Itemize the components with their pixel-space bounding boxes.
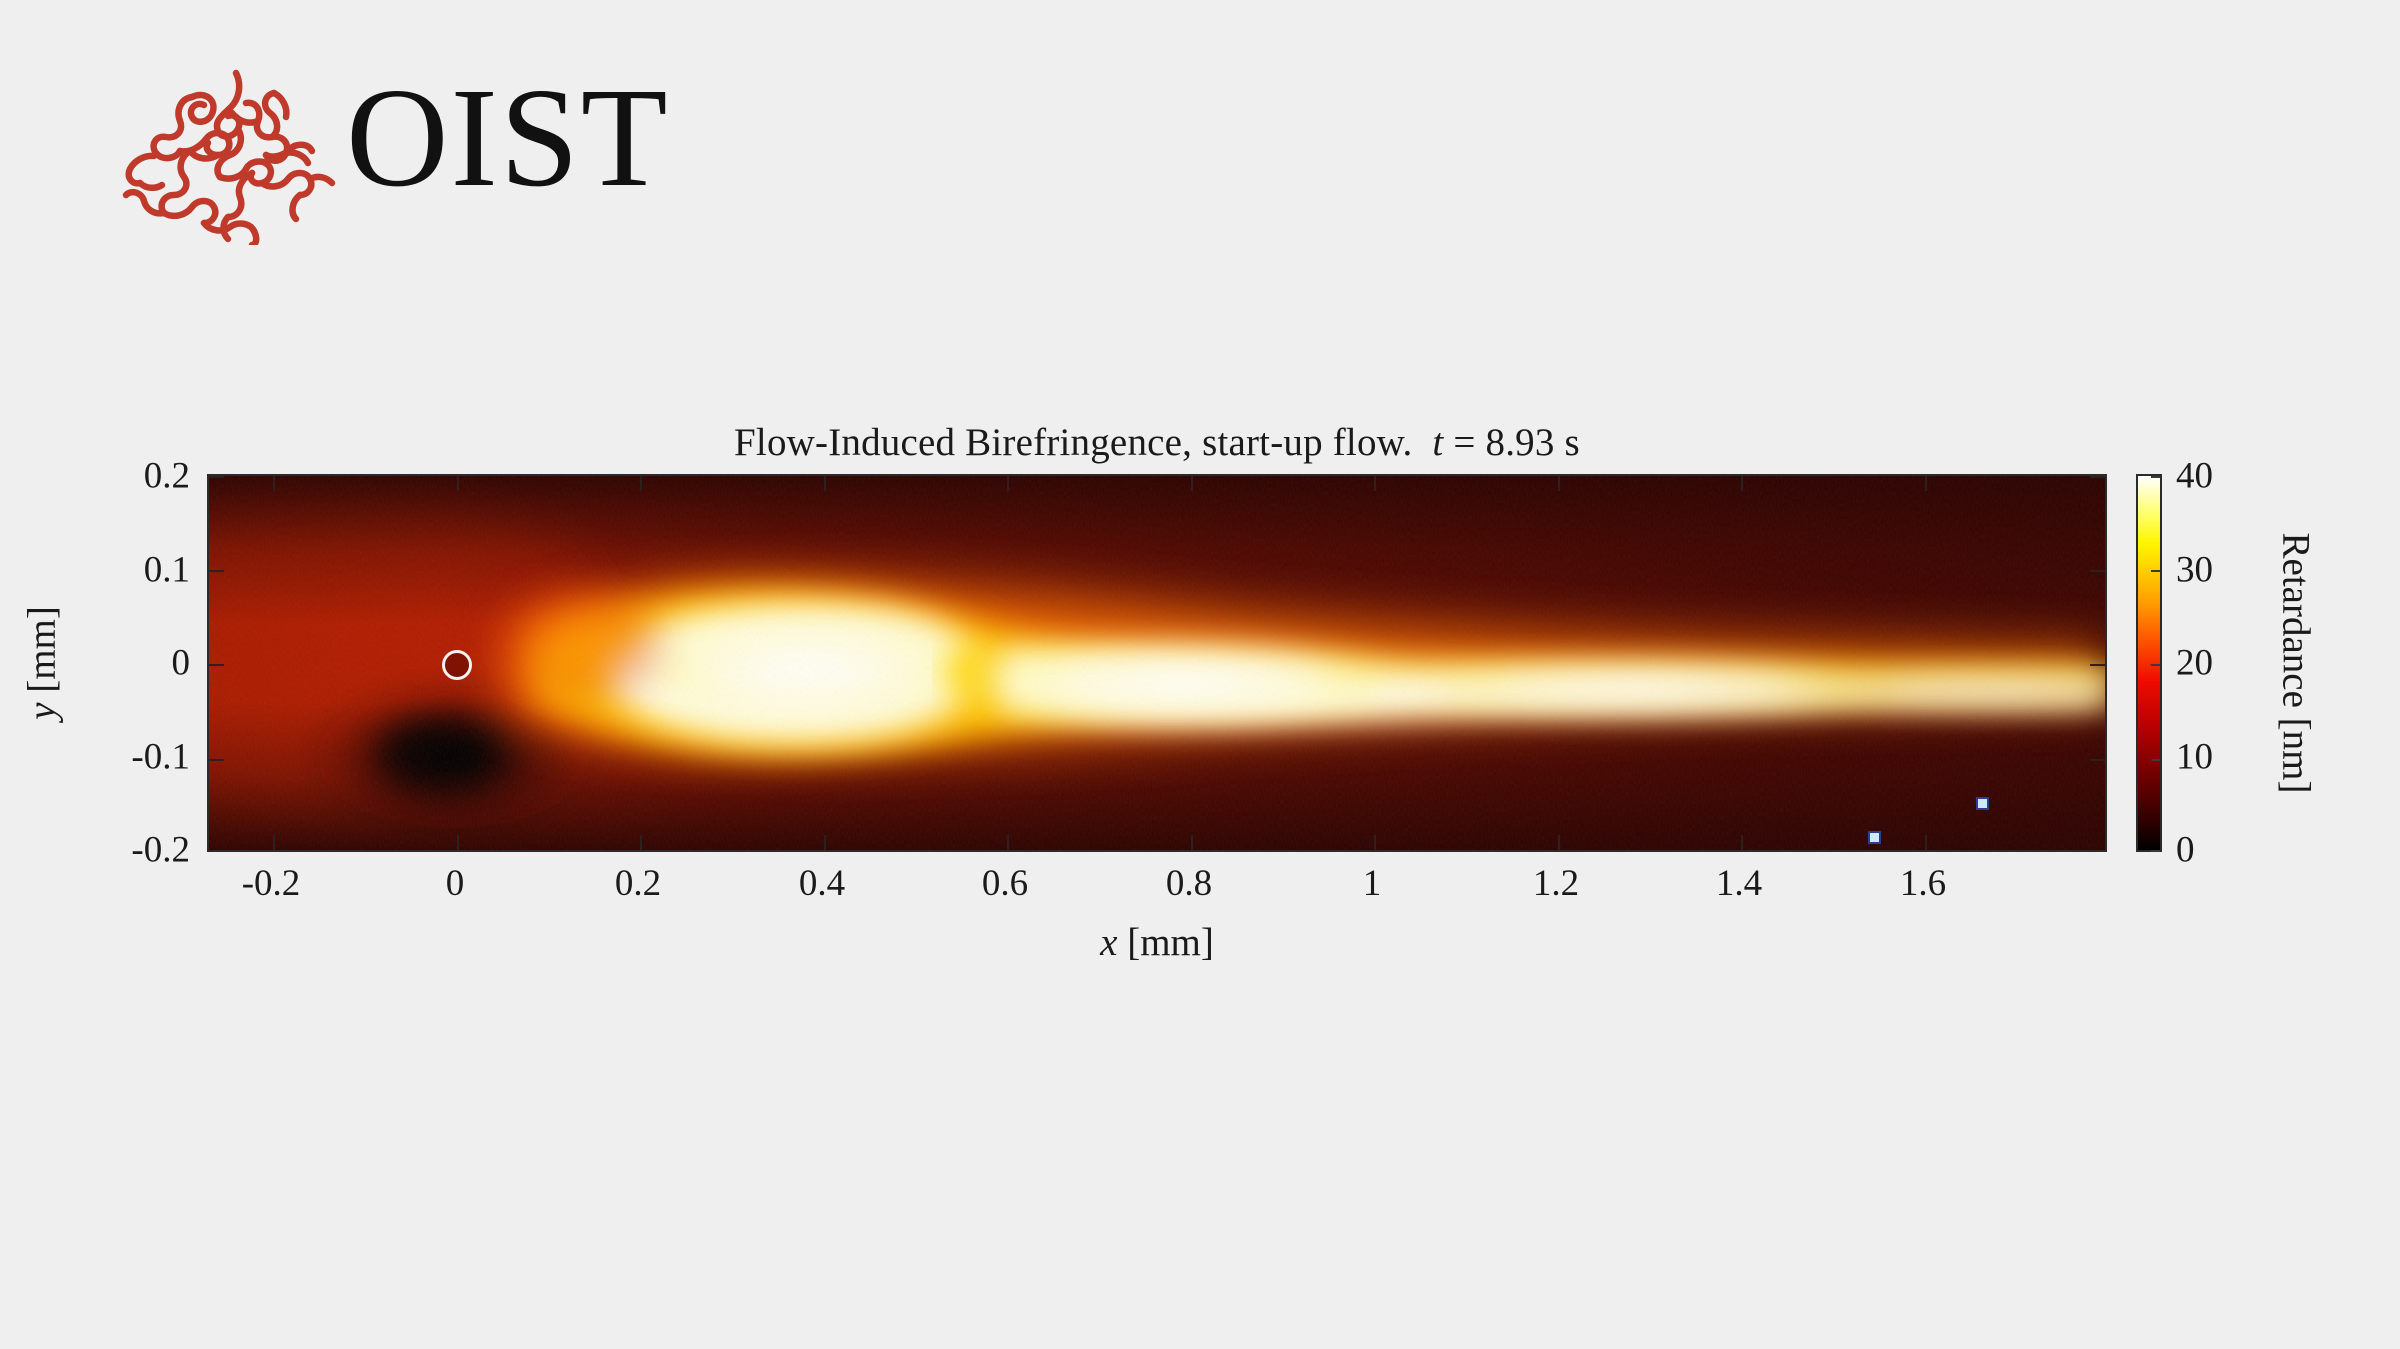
particle-marker-2: [1976, 797, 1989, 810]
x-axis-title: x [mm]: [207, 920, 2107, 965]
y-tick-right: [2090, 664, 2105, 666]
y-tick-left: [209, 570, 224, 572]
retardance-heatmap: [209, 476, 2105, 850]
oist-wordmark: OIST: [346, 63, 676, 223]
colorbar-label-unit: [nm]: [2275, 718, 2318, 794]
x-tick-label: 1: [1363, 862, 1382, 905]
x-tick-label: 0.6: [982, 862, 1028, 905]
colorbar-tick-label: 40: [2176, 455, 2213, 498]
x-tick-label: 1.2: [1533, 862, 1579, 905]
y-axis-symbol: y: [21, 703, 64, 720]
y-tick-right: [2090, 851, 2105, 852]
colorbar-tick: [2151, 664, 2160, 666]
colorbar-label-text: Retardance: [2275, 533, 2318, 708]
x-tick-top: [1558, 476, 1560, 491]
oist-polymer-chain-logo-icon: [118, 55, 348, 245]
y-tick-left: [209, 759, 224, 761]
x-tick-top: [1191, 476, 1193, 491]
colorbar-tick: [2151, 570, 2160, 572]
y-axis-unit: [mm]: [21, 606, 64, 693]
figure-title-time-symbol: t: [1432, 421, 1443, 464]
figure-title: Flow-Induced Birefringence, start-up flo…: [207, 420, 2107, 465]
colorbar-tick: [2151, 759, 2160, 761]
cylinder-marker: [442, 650, 472, 680]
x-tick-bottom: [1007, 835, 1009, 850]
x-tick-bottom: [1558, 835, 1560, 850]
x-tick-label: 0.2: [615, 862, 661, 905]
oist-wordmark-text: OIST: [346, 63, 670, 216]
oist-logo: OIST: [118, 55, 678, 245]
x-tick-top: [1007, 476, 1009, 491]
y-tick-left: [209, 476, 224, 478]
y-tick-left: [209, 851, 224, 852]
colorbar: [2136, 474, 2162, 852]
x-tick-bottom: [824, 835, 826, 850]
x-tick-label: 1.4: [1716, 862, 1762, 905]
x-tick-bottom: [1374, 835, 1376, 850]
x-tick-bottom: [1925, 835, 1927, 850]
x-tick-top: [1925, 476, 1927, 491]
y-tick-right: [2090, 759, 2105, 761]
colorbar-axis-title: Retardance [nm]: [2274, 533, 2319, 794]
y-axis-title: y [mm]: [20, 606, 65, 720]
y-tick-right: [2090, 476, 2105, 478]
y-tick-label: 0.1: [144, 549, 190, 592]
figure-title-main: Flow-Induced Birefringence, start-up flo…: [734, 421, 1412, 464]
x-tick-bottom: [1741, 835, 1743, 850]
x-tick-top: [824, 476, 826, 491]
x-tick-top: [640, 476, 642, 491]
figure-title-time-value: 8.93: [1486, 421, 1555, 464]
x-axis-unit: [mm]: [1127, 921, 1214, 964]
y-tick-label: -0.2: [131, 829, 190, 872]
x-tick-label: -0.2: [242, 862, 301, 905]
colorbar-tick: [2151, 850, 2160, 852]
y-tick-left: [209, 664, 224, 666]
colorbar-tick-label: 30: [2176, 549, 2213, 592]
x-tick-top: [457, 476, 459, 491]
x-tick-top: [1741, 476, 1743, 491]
x-axis-symbol: x: [1100, 921, 1117, 964]
colorbar-tick-label: 0: [2176, 829, 2195, 872]
y-tick-label: -0.1: [131, 736, 190, 779]
y-tick-right: [2090, 570, 2105, 572]
figure-title-equals: =: [1453, 421, 1475, 464]
x-tick-label: 0.8: [1166, 862, 1212, 905]
x-tick-bottom: [1191, 835, 1193, 850]
x-tick-top: [273, 476, 275, 491]
x-tick-label: 1.6: [1900, 862, 1946, 905]
x-tick-label: 0.4: [799, 862, 845, 905]
x-tick-bottom: [273, 835, 275, 850]
x-tick-label: 0: [446, 862, 465, 905]
heatmap-axes: [207, 474, 2107, 852]
figure-title-time-unit: s: [1565, 421, 1580, 464]
colorbar-tick-label: 20: [2176, 642, 2213, 685]
particle-marker-1: [1868, 831, 1881, 844]
colorbar-tick: [2151, 476, 2160, 478]
y-tick-label: 0.2: [144, 455, 190, 498]
x-tick-bottom: [457, 835, 459, 850]
colorbar-tick-label: 10: [2176, 736, 2213, 779]
y-tick-label: 0: [172, 642, 191, 685]
birefringence-figure: Flow-Induced Birefringence, start-up flo…: [0, 380, 2400, 980]
x-tick-top: [1374, 476, 1376, 491]
x-tick-bottom: [640, 835, 642, 850]
